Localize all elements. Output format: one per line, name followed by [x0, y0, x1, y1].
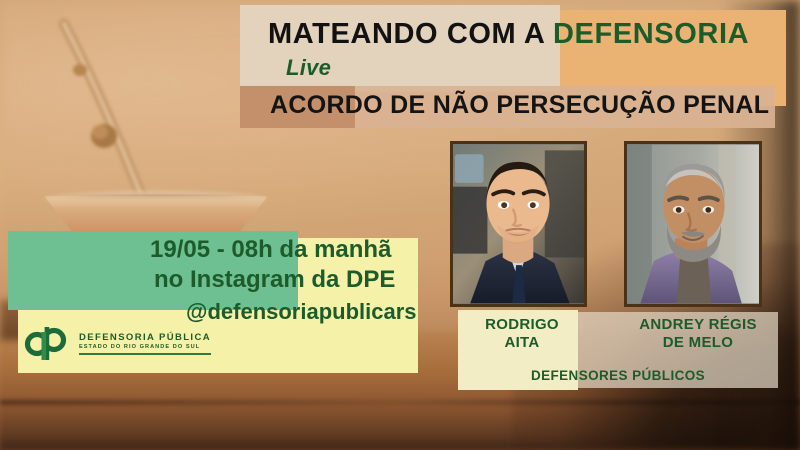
- speaker-photo-andrey-regis-de-melo: [624, 141, 762, 307]
- event-datetime: 19/05 - 08h da manhã: [150, 236, 391, 264]
- dp-monogram-icon: [24, 325, 70, 361]
- speaker-name-right: ANDREY RÉGIS DE MELO: [614, 316, 782, 353]
- page-title: MATEANDO COM A DEFENSORIA: [268, 18, 749, 51]
- speaker-name-left: RODRIGO AITA: [462, 316, 582, 353]
- live-label: Live: [286, 55, 331, 81]
- page-subtitle: ACORDO DE NÃO PERSECUÇÃO PENAL: [270, 91, 769, 120]
- logo-text-block: DEFENSORIA PÚBLICA ESTADO DO RIO GRANDE …: [79, 332, 211, 355]
- speaker-photo-rodrigo-aita: [450, 141, 587, 307]
- title-main-text: MATEANDO COM A: [268, 18, 553, 50]
- logo-divider: [79, 353, 211, 355]
- instagram-handle: @defensoriapublicars: [186, 299, 417, 325]
- logo-title: DEFENSORIA PÚBLICA: [79, 332, 211, 343]
- event-poster: MATEANDO COM A DEFENSORIA Live ACORDO DE…: [0, 0, 800, 450]
- bombilla-straw-icon: [50, 18, 190, 214]
- defensoria-logo: DEFENSORIA PÚBLICA ESTADO DO RIO GRANDE …: [24, 325, 211, 361]
- event-channel: no Instagram da DPE: [154, 266, 395, 294]
- title-accent-text: DEFENSORIA: [553, 18, 749, 50]
- speakers-role-label: DEFENSORES PÚBLICOS: [458, 368, 778, 383]
- logo-subtitle: ESTADO DO RIO GRANDE DO SUL: [79, 344, 211, 350]
